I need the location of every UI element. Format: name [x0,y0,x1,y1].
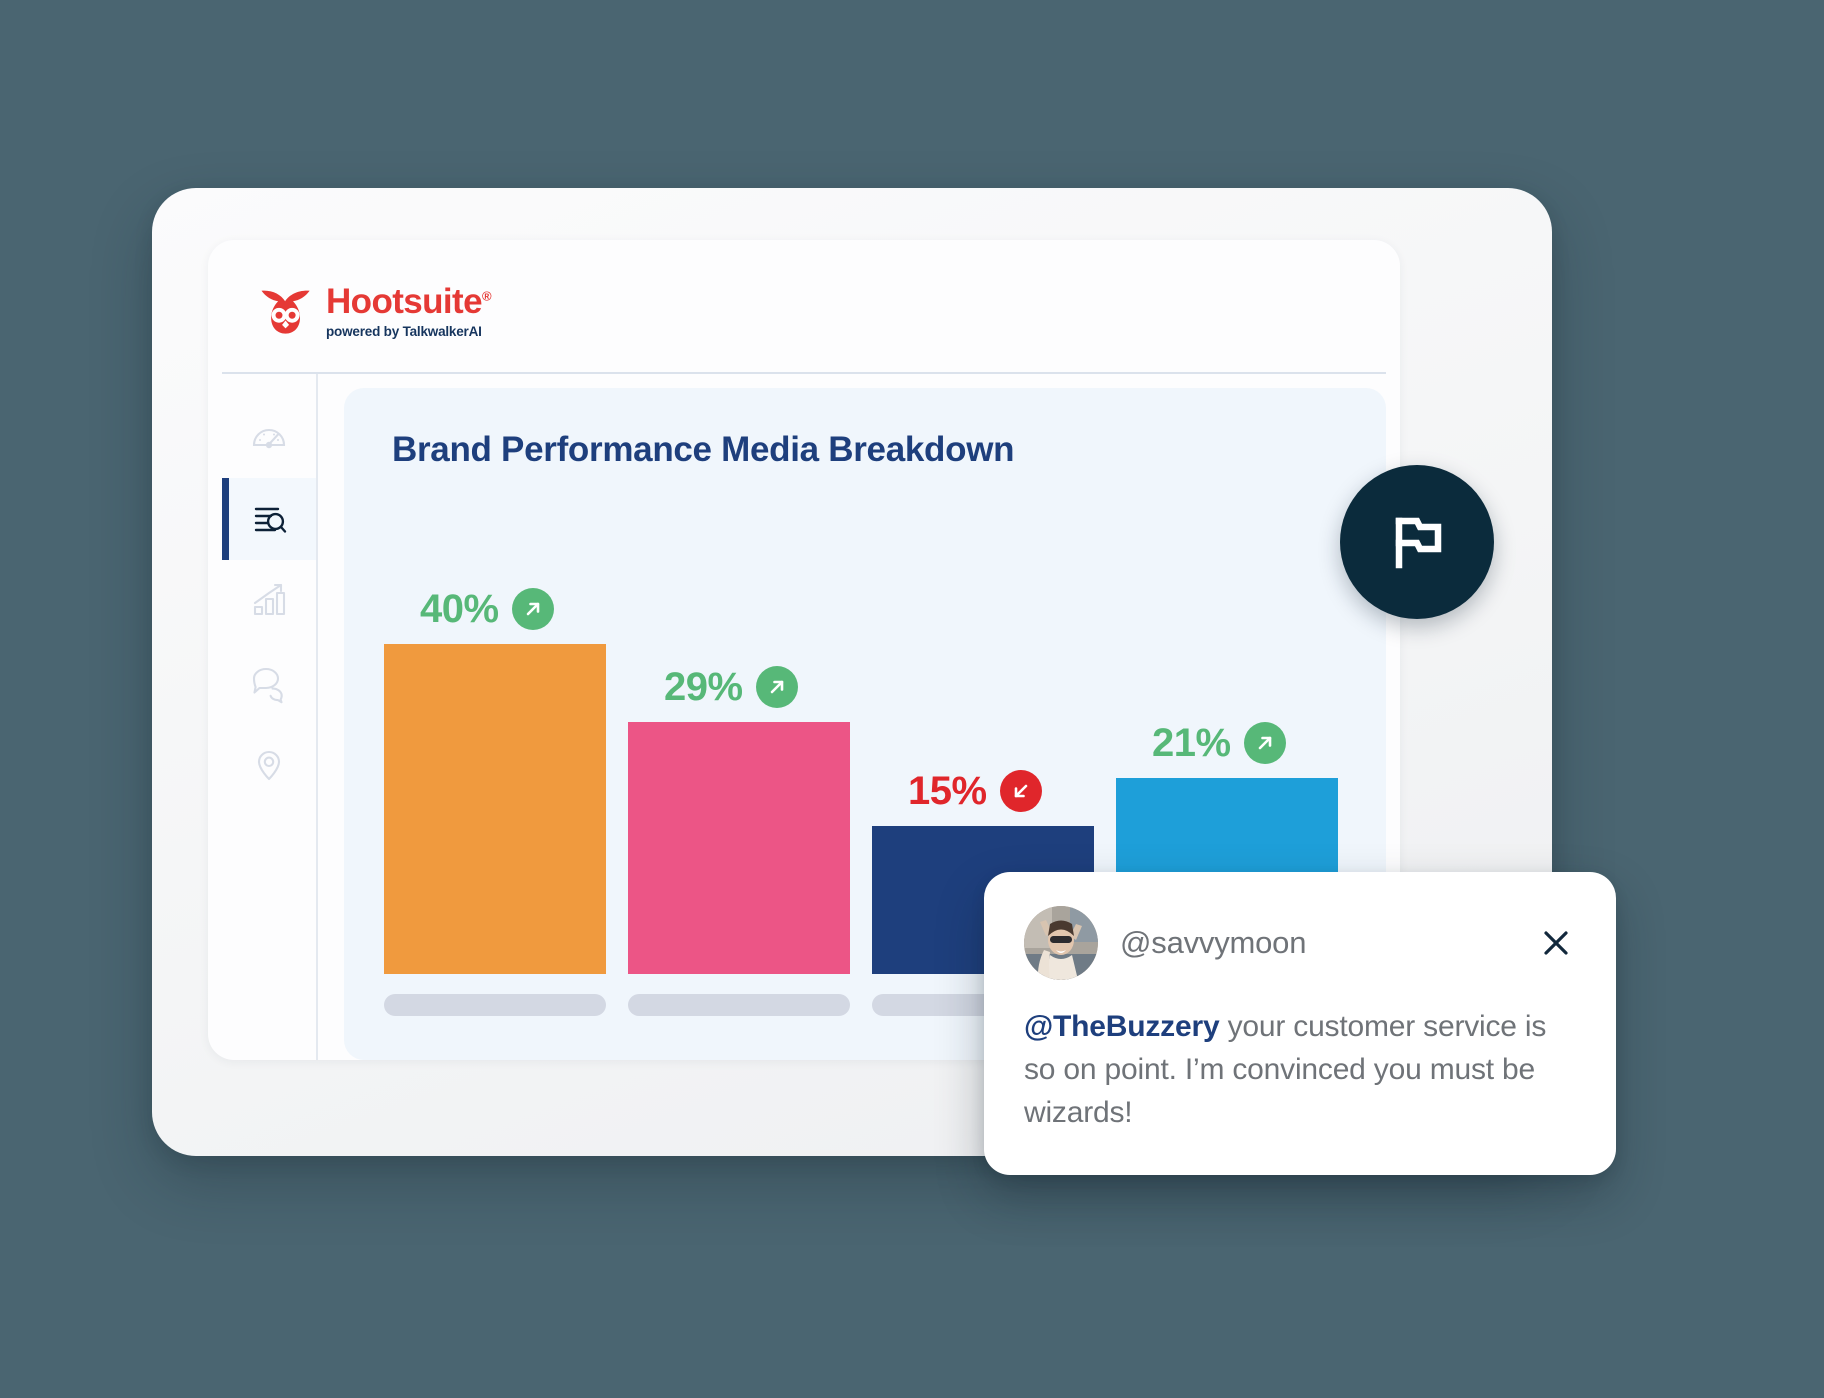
tweet-card: @savvymoon @TheBuzzery your customer ser… [984,872,1616,1175]
bar-column[interactable]: 40% [384,508,606,974]
trend-up-icon [756,666,798,708]
registered-mark: ® [482,288,491,303]
bar-rect [628,722,850,974]
tweet-header: @savvymoon [1024,906,1576,980]
gauge-icon [247,415,291,459]
sidebar-item-search[interactable] [222,478,316,560]
bar-column[interactable]: 29% [628,508,850,974]
bar-value-label: 21% [1152,723,1231,763]
app-header: Hootsuite® powered by TalkwalkerAI [222,240,1386,374]
sidebar-item-conversations[interactable] [222,642,316,724]
brand-name: Hootsuite® [326,284,491,319]
close-icon[interactable] [1536,923,1576,963]
bar-label-group: 21% [1116,722,1286,764]
speech-bubbles-icon [247,661,291,705]
bar-value-label: 40% [420,589,499,629]
sidebar-item-analytics[interactable] [222,560,316,642]
hootsuite-owl-icon [258,282,314,338]
bar-rect [384,644,606,974]
search-list-icon [247,497,291,541]
brand-logo[interactable]: Hootsuite® powered by TalkwalkerAI [258,280,491,339]
trend-down-icon [1000,770,1042,812]
trend-up-icon [1244,722,1286,764]
bar-label-group: 15% [872,770,1042,812]
tweet-mention[interactable]: @TheBuzzery [1024,1010,1219,1043]
sidebar-item-dashboard[interactable] [222,396,316,478]
tweet-handle: @savvymoon [1120,925,1514,961]
chart-title: Brand Performance Media Breakdown [392,430,1386,470]
sidebar [222,374,318,1060]
tweet-text: @TheBuzzery your customer service is so … [1024,1006,1576,1135]
axis-label-placeholder [628,994,850,1016]
flag-badge[interactable] [1340,465,1494,619]
bar-chart-growth-icon [247,579,291,623]
bar-label-group: 40% [384,588,554,630]
axis-label-placeholder [384,994,606,1016]
sidebar-item-locations[interactable] [222,724,316,806]
bar-label-group: 29% [628,666,798,708]
trend-up-icon [512,588,554,630]
avatar [1024,906,1098,980]
bar-value-label: 15% [908,771,987,811]
brand-tagline: powered by TalkwalkerAI [326,324,491,339]
bar-value-label: 29% [664,667,743,707]
avatar-photo [1024,906,1098,980]
flag-icon [1380,505,1454,579]
location-pin-icon [247,743,291,787]
